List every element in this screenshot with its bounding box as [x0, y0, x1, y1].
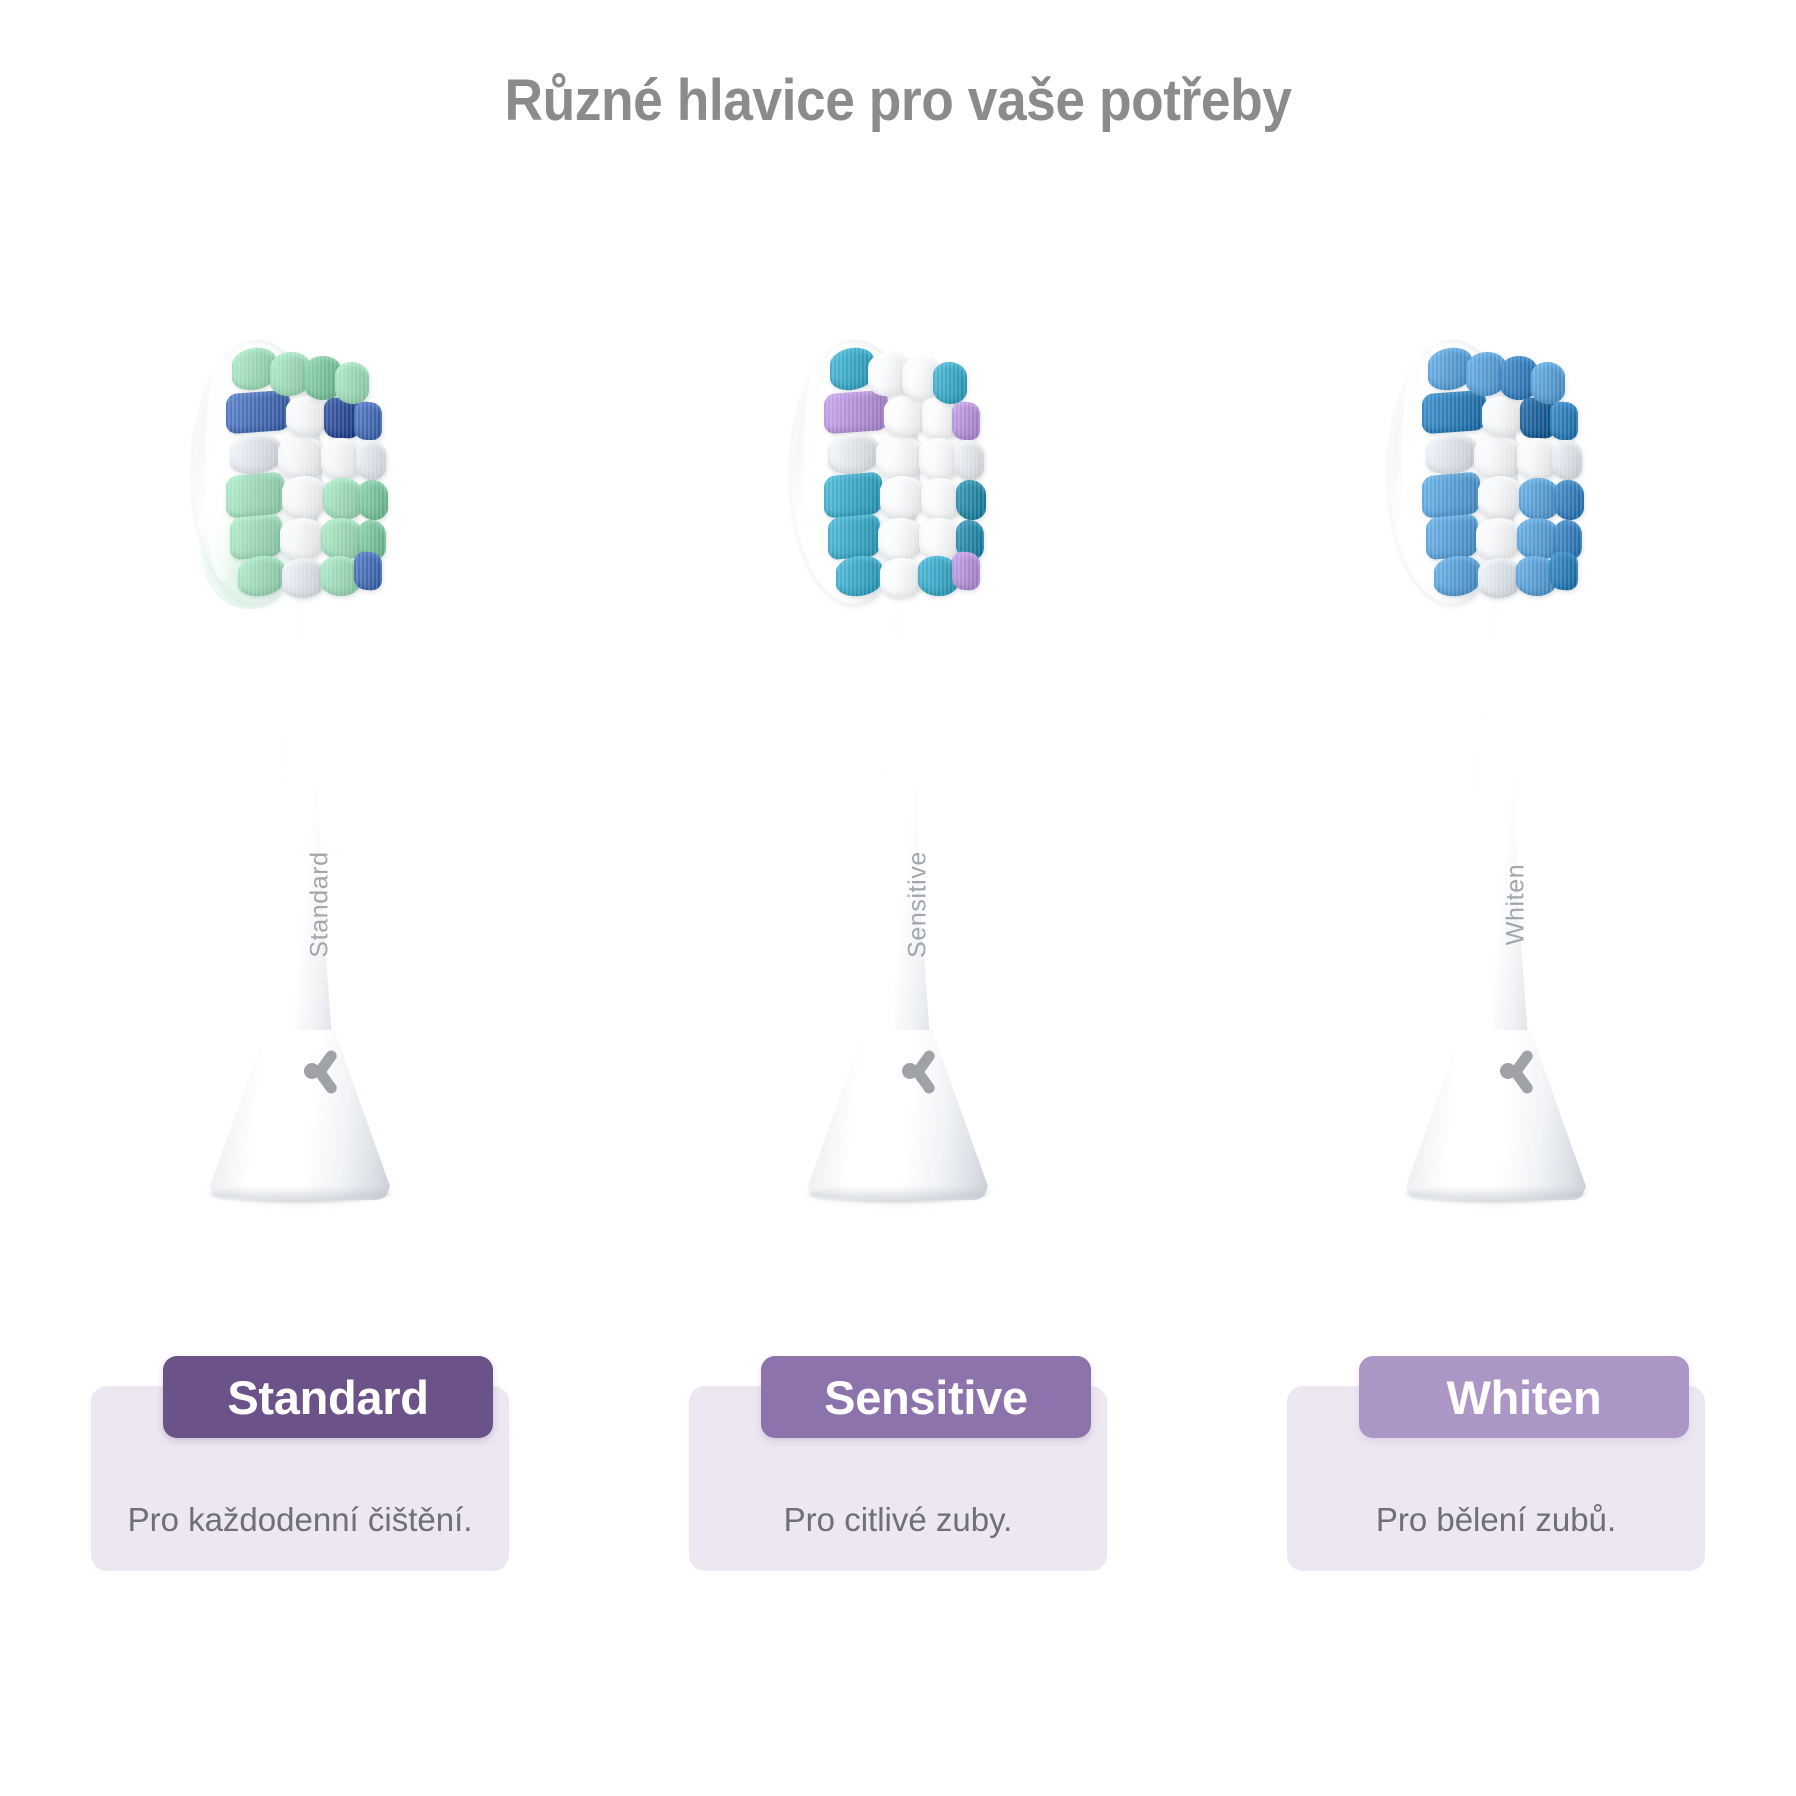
bristle-field-whiten — [1400, 346, 1650, 601]
card-description: Pro každodenní čištění. — [128, 1501, 473, 1539]
brush-neck-highlight — [1478, 588, 1494, 1088]
bristle-tuft — [335, 361, 369, 404]
bristle-tuft — [1422, 471, 1480, 518]
toothbrush-head-standard: Standard — [170, 330, 430, 1210]
bristle-tuft — [878, 518, 922, 561]
bristle-tuft — [286, 396, 328, 436]
brush-base-rim — [209, 1186, 391, 1202]
bristle-tuft — [824, 471, 882, 518]
bristle-tuft — [230, 432, 280, 475]
product-badge-whiten[interactable]: Whiten — [1359, 1356, 1689, 1438]
card-slot-whiten: Pro bělení zubů. Whiten — [1197, 1356, 1795, 1616]
bristle-tuft — [282, 558, 324, 599]
bristle-tuft — [1482, 396, 1524, 436]
neck-label-whiten: Whiten — [1502, 864, 1531, 945]
bristle-tuft — [238, 554, 284, 598]
bristle-tuft — [952, 551, 980, 591]
bristle-tuft — [1476, 518, 1520, 561]
bristle-tuft — [226, 471, 284, 518]
product-image-row: Standard Sensitive — [0, 330, 1796, 1230]
card-slot-standard: Pro každodenní čištění. Standard — [1, 1356, 599, 1616]
bristle-tuft — [1550, 551, 1578, 591]
bristle-tuft — [1426, 432, 1476, 475]
toothbrush-head-sensitive: Sensitive — [768, 330, 1028, 1210]
card-description: Pro citlivé zuby. — [784, 1501, 1013, 1539]
product-image-whiten: Whiten — [1197, 330, 1795, 1230]
bristle-tuft — [836, 554, 882, 598]
brand-logo-icon — [295, 1044, 349, 1098]
bristle-tuft — [226, 390, 290, 434]
bristle-tuft — [1478, 476, 1522, 519]
bristle-tuft — [828, 432, 878, 475]
bristle-tuft — [1519, 477, 1559, 520]
bristle-field-standard — [204, 346, 454, 601]
brush-neck-highlight — [880, 588, 896, 1088]
neck-label-sensitive: Sensitive — [904, 851, 933, 958]
bristle-tuft — [1517, 437, 1557, 480]
neck-label-standard: Standard — [306, 851, 335, 957]
brush-base-rim — [1405, 1186, 1587, 1202]
card-description: Pro bělení zubů. — [1376, 1501, 1616, 1539]
brush-base-rim — [807, 1186, 989, 1202]
product-badge-sensitive[interactable]: Sensitive — [761, 1356, 1091, 1438]
bristle-tuft — [1478, 558, 1520, 599]
bristle-tuft — [956, 479, 986, 521]
bristle-tuft — [933, 361, 967, 404]
bristle-tuft — [1531, 361, 1565, 404]
bristle-tuft — [282, 476, 326, 519]
bristle-field-sensitive — [802, 346, 1052, 601]
bristle-tuft — [880, 558, 922, 599]
brand-logo-icon — [1491, 1044, 1545, 1098]
bristle-tuft — [876, 436, 922, 479]
bristle-tuft — [1422, 390, 1486, 434]
product-card-row: Pro každodenní čištění. Standard Pro cit… — [0, 1356, 1796, 1616]
bristle-tuft — [880, 476, 924, 519]
page-title: Různé hlavice pro vaše potřeby — [72, 0, 1724, 200]
brush-neck-highlight — [282, 588, 298, 1088]
bristle-tuft — [354, 401, 382, 441]
brand-logo-icon — [893, 1044, 947, 1098]
toothbrush-head-whiten: Whiten — [1366, 330, 1626, 1210]
bristle-tuft — [356, 439, 386, 481]
bristle-tuft — [919, 437, 959, 480]
bristle-tuft — [1434, 554, 1480, 598]
product-image-standard: Standard — [1, 330, 599, 1230]
bristle-tuft — [952, 401, 980, 441]
product-badge-standard[interactable]: Standard — [163, 1356, 493, 1438]
bristle-tuft — [1426, 514, 1478, 561]
bristle-tuft — [1550, 401, 1578, 441]
product-image-sensitive: Sensitive — [599, 330, 1197, 1230]
bristle-tuft — [1474, 436, 1520, 479]
bristle-tuft — [354, 551, 382, 591]
bristle-tuft — [280, 518, 324, 561]
bristle-tuft — [321, 437, 361, 480]
bristle-tuft — [954, 439, 984, 481]
bristle-tuft — [828, 514, 880, 561]
card-slot-sensitive: Pro citlivé zuby. Sensitive — [599, 1356, 1197, 1616]
bristle-tuft — [921, 477, 961, 520]
bristle-tuft — [230, 514, 282, 561]
bristle-tuft — [884, 396, 926, 436]
bristle-tuft — [1554, 479, 1584, 521]
bristle-tuft — [323, 477, 363, 520]
bristle-tuft — [1552, 439, 1582, 481]
bristle-tuft — [824, 390, 888, 434]
bristle-tuft — [358, 479, 388, 521]
bristle-tuft — [278, 436, 324, 479]
